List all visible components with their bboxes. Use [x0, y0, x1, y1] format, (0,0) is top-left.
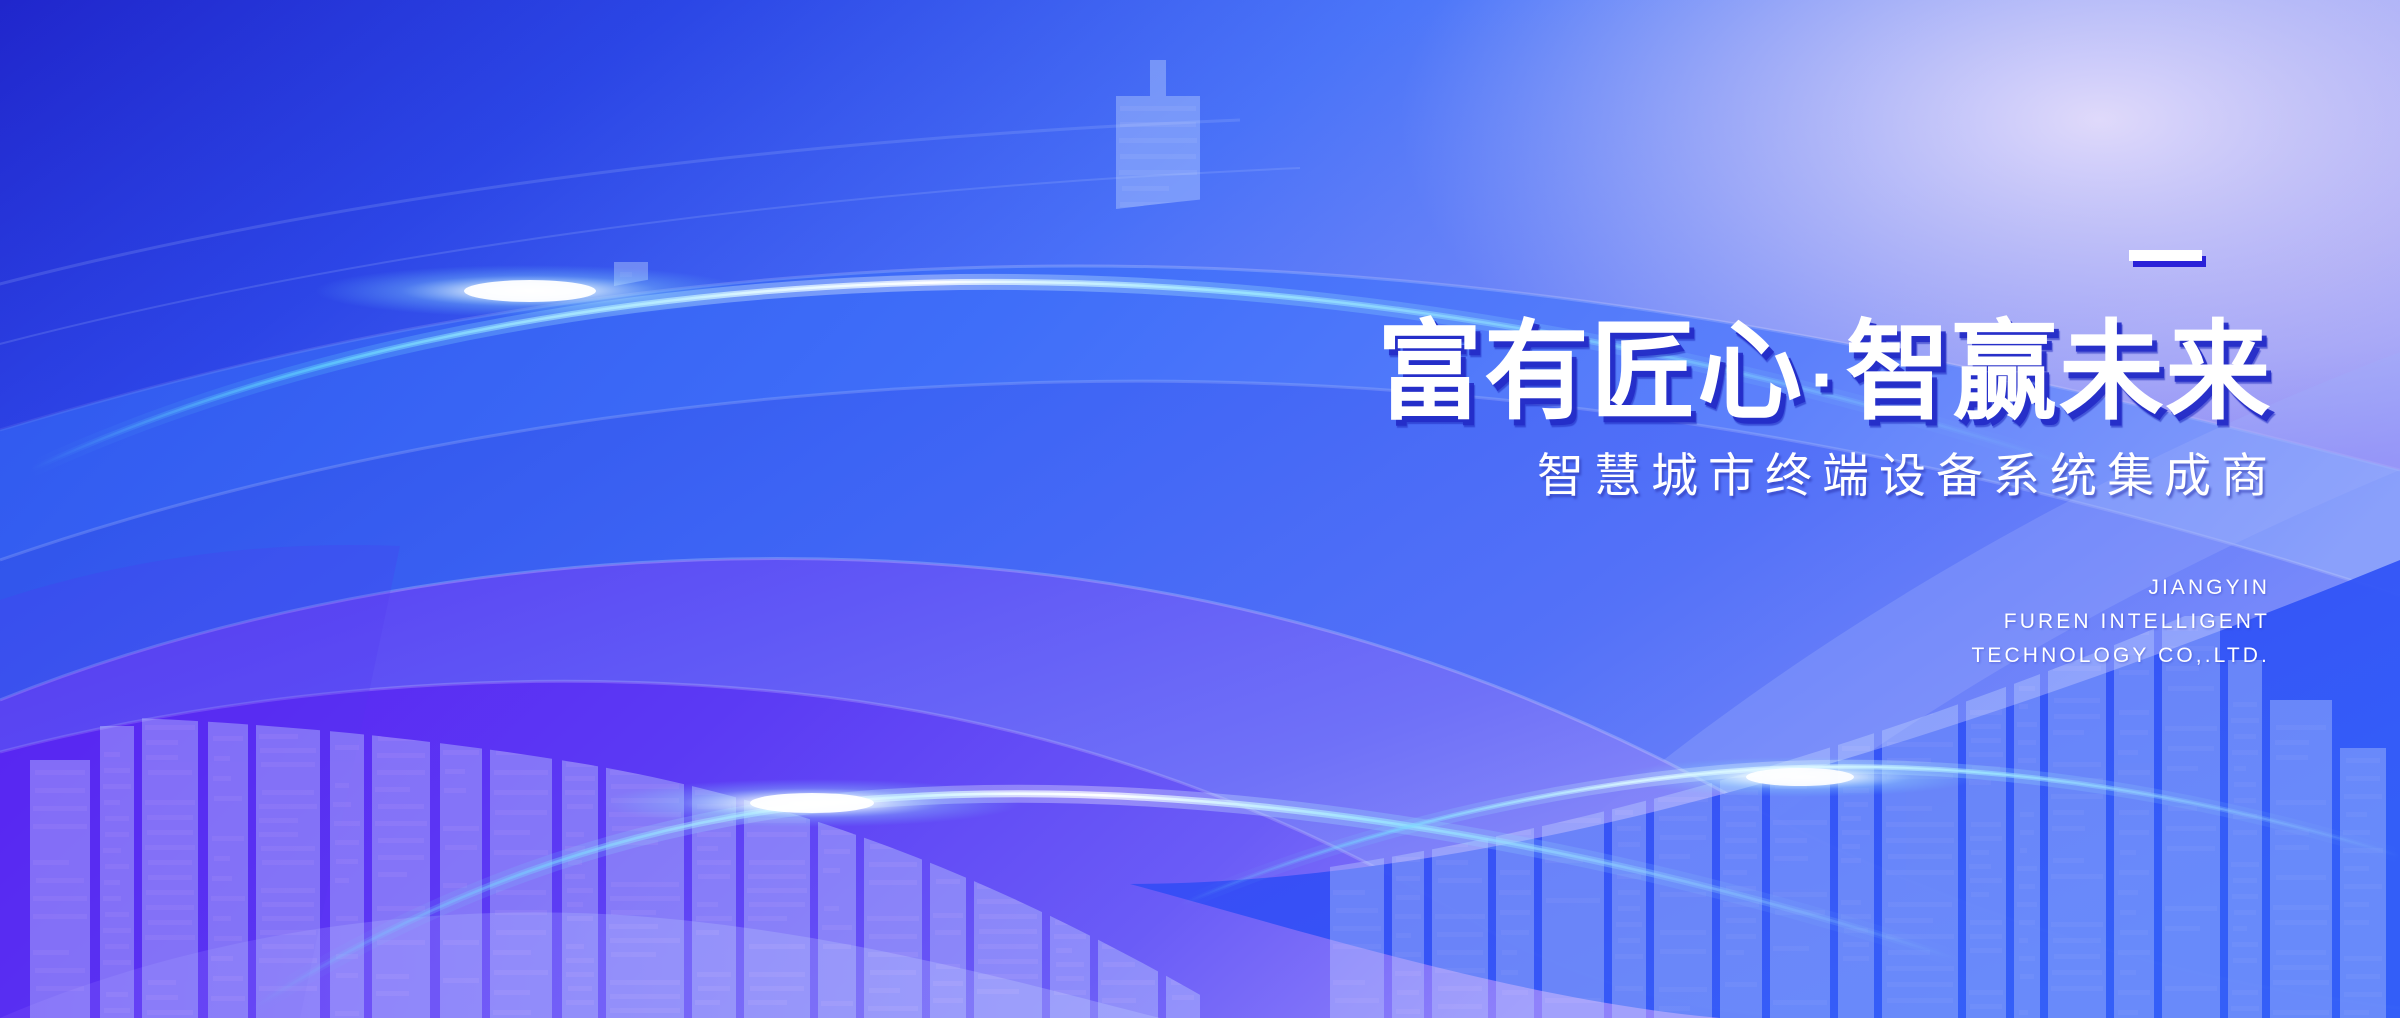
headline-right: 智赢未来 — [1845, 311, 2272, 432]
company-line-3: TECHNOLOGY CO,.LTD. — [1020, 639, 2270, 673]
page-title: 富有匠心·智赢未来 — [1058, 318, 2280, 426]
promotional-banner: 富有匠心·智赢未来 智慧城市终端设备系统集成商 JIANGYIN FUREN I… — [0, 0, 2400, 1018]
company-line-2: FUREN INTELLIGENT — [1020, 605, 2270, 639]
accent-dash-icon — [2129, 250, 2202, 261]
company-line-1: JIANGYIN — [1020, 571, 2270, 605]
headline-separator: · — [1804, 332, 1845, 428]
headline-left: 富有匠心 — [1377, 311, 1804, 432]
company-name: JIANGYIN FUREN INTELLIGENT TECHNOLOGY CO… — [1020, 571, 2280, 673]
page-subtitle: 智慧城市终端设备系统集成商 — [1020, 452, 2280, 499]
background-artwork — [0, 0, 2400, 1018]
